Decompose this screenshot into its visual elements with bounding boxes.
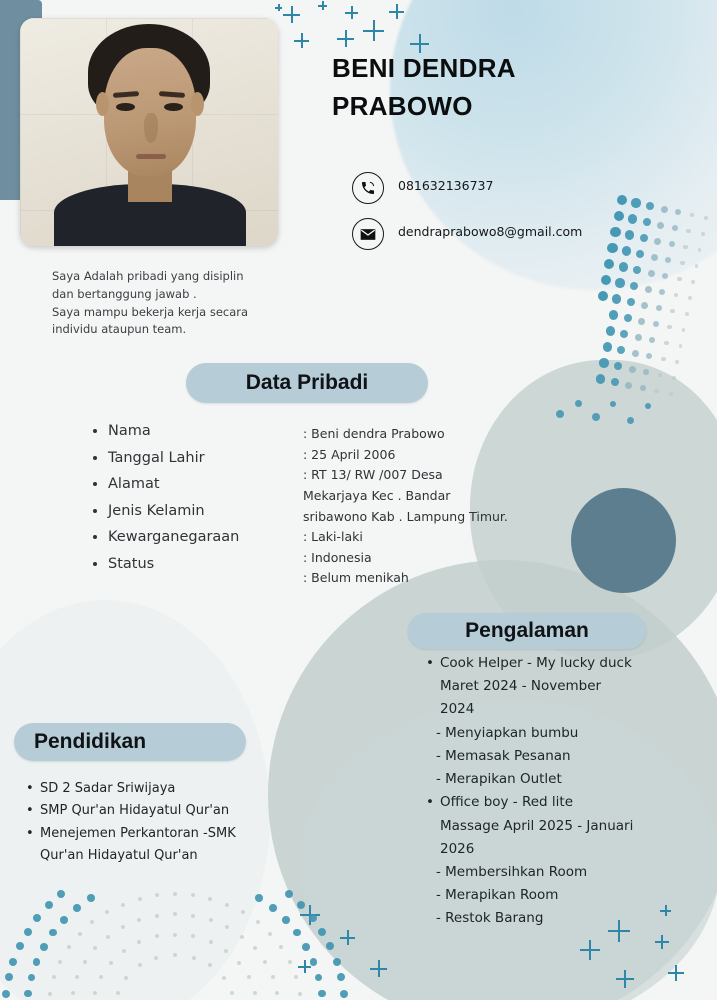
experience-role: Cook Helper - My lucky duck Maret 2024 -… (424, 652, 634, 722)
decorative-dot (620, 330, 628, 338)
decorative-dot (173, 953, 177, 957)
photo-ear-left (96, 92, 109, 116)
data-pribadi-label: Tanggal Lahir (108, 451, 302, 466)
decorative-dot (225, 925, 229, 929)
decorative-dot (688, 296, 692, 300)
decorative-dot (669, 392, 673, 396)
decorative-dot (628, 214, 637, 223)
experience-task: - Merapikan Room (424, 884, 634, 907)
decorative-dot (73, 904, 81, 912)
decorative-dot (138, 897, 142, 901)
data-pribadi-value: : 25 April 2006 (303, 445, 509, 466)
decorative-dot (24, 928, 32, 936)
decorative-dot (124, 976, 128, 980)
decorative-dot (674, 293, 679, 298)
decorative-dot (24, 990, 32, 998)
decorative-dot (592, 413, 600, 421)
decorative-dot (75, 975, 79, 979)
decorative-dot (677, 277, 682, 282)
page-title: BENI DENDRA PRABOWO (332, 50, 632, 125)
education-item: SD 2 Sadar Sriwijaya (22, 778, 240, 800)
decorative-dot (297, 901, 305, 909)
decorative-dot (230, 991, 234, 995)
decorative-dot (121, 903, 125, 907)
decorative-dot (340, 990, 348, 998)
decorative-dot (2, 990, 10, 998)
decorative-dot (191, 914, 195, 918)
section-heading-data-pribadi: Data Pribadi (186, 363, 428, 403)
decorative-dot (646, 353, 652, 359)
decorative-dot (704, 216, 708, 220)
decorative-dot (649, 337, 655, 343)
decorative-dot (106, 935, 110, 939)
decorative-dot (632, 350, 639, 357)
decorative-dot (669, 241, 675, 247)
decorative-dot (609, 310, 618, 319)
photo-eye-right (164, 103, 183, 111)
decorative-dot (604, 259, 614, 269)
section-heading-pendidikan: Pendidikan (14, 723, 246, 761)
decorative-dot (633, 266, 641, 274)
decorative-dot (285, 890, 293, 898)
decorative-dot (298, 992, 302, 996)
decorative-dot (627, 417, 634, 424)
decorative-dot (60, 916, 68, 924)
decorative-dot (661, 206, 668, 213)
decorative-dot (33, 958, 41, 966)
decorative-dot (288, 960, 292, 964)
decorative-dot (636, 250, 644, 258)
decorative-dot (57, 890, 65, 898)
decorative-dot (138, 963, 142, 967)
decorative-dot (154, 956, 158, 960)
decorative-dot (28, 974, 36, 982)
decorative-dot (293, 929, 301, 937)
decorative-dot (667, 325, 672, 330)
contact-email: dendraprabowo8@gmail.com (352, 218, 610, 250)
decorative-dot (155, 914, 159, 918)
decorative-dot (209, 918, 213, 922)
contact-phone: 081632136737 (352, 172, 610, 204)
decorative-dot (645, 403, 651, 409)
decorative-dot (78, 932, 82, 936)
decorative-dot (209, 940, 213, 944)
phone-number: 081632136737 (398, 172, 610, 195)
decorative-dot (641, 302, 648, 309)
decorative-dot (610, 227, 620, 237)
photo-ear-right (191, 92, 204, 116)
experience-task: - Menyiapkan bumbu (424, 722, 634, 745)
experience-task: - Restok Barang (424, 907, 634, 930)
decorative-dot (640, 385, 646, 391)
photo-nose (144, 113, 158, 143)
phone-icon (352, 172, 384, 204)
decorative-dot (629, 366, 636, 373)
decorative-dot (686, 229, 691, 234)
decorative-dot (121, 925, 125, 929)
summary-line: individu ataupun team. (52, 321, 304, 339)
decorative-dot (662, 273, 668, 279)
decorative-dot (224, 949, 228, 953)
summary-line: Saya mampu bekerja kerja secara (52, 304, 304, 322)
decorative-dot (631, 198, 640, 207)
decorative-dot (263, 960, 267, 964)
decorative-dot (294, 975, 298, 979)
decorative-dot (691, 280, 695, 284)
decorative-dot (661, 357, 666, 362)
data-pribadi-value: : RT 13/ RW /007 Desa Mekarjaya Kec . Ba… (303, 465, 509, 527)
profile-photo (20, 18, 278, 246)
decorative-dot (599, 358, 608, 367)
decorative-dot (192, 956, 196, 960)
decorative-dot (315, 974, 323, 982)
decorative-dot (682, 328, 686, 332)
decorative-dot (653, 321, 659, 327)
decorative-dot (45, 901, 53, 909)
decorative-dot (109, 961, 113, 965)
decorative-dot (49, 929, 57, 937)
decorative-dot (271, 975, 275, 979)
decorative-dot (654, 238, 661, 245)
decorative-dot (645, 286, 652, 293)
decorative-dot (326, 942, 334, 950)
decorative-dot (656, 305, 662, 311)
decorative-dot (679, 344, 683, 348)
decorative-dot (638, 318, 645, 325)
decorative-dot (222, 976, 226, 980)
decorative-dot (173, 912, 177, 916)
decorative-dot (596, 374, 605, 383)
experience-role: Office boy - Red lite Massage April 2025… (424, 791, 634, 861)
decorative-dot (680, 261, 685, 266)
decorative-dot (48, 992, 52, 996)
decorative-dot (617, 195, 627, 205)
decorative-dot (255, 894, 263, 902)
decorative-dot (137, 940, 141, 944)
decorative-dot (643, 369, 649, 375)
section-heading-pengalaman: Pengalaman (408, 613, 646, 649)
decorative-dot (625, 230, 634, 239)
decorative-dot (58, 960, 62, 964)
decorative-dot (33, 914, 41, 922)
decorative-dot (40, 943, 48, 951)
data-pribadi-value: : Belum menikah (303, 568, 509, 589)
decorative-dot (155, 893, 159, 897)
decorative-dot (701, 232, 705, 236)
decorative-dot (302, 943, 310, 951)
photo-mouth (136, 154, 166, 159)
decorative-dot (173, 933, 177, 937)
decorative-dot (615, 278, 624, 287)
cv-page: BENI DENDRA PRABOWO 081632136737 dendrap… (0, 0, 717, 1000)
decorative-dot (105, 910, 109, 914)
decorative-dot (237, 961, 241, 965)
decorative-dot (657, 222, 664, 229)
decorative-dot (675, 209, 681, 215)
decorative-dot (282, 916, 290, 924)
data-pribadi-label: Jenis Kelamin (108, 504, 302, 519)
decorative-dot (71, 991, 75, 995)
decorative-dot (318, 928, 326, 936)
decorative-dot (279, 945, 283, 949)
decorative-dot (601, 275, 611, 285)
decorative-dot (269, 904, 277, 912)
decorative-dot (619, 262, 628, 271)
decorative-dot (99, 975, 103, 979)
decorative-dot (83, 960, 87, 964)
decorative-dot (685, 312, 689, 316)
decorative-dot (318, 990, 326, 998)
education-item: SMP Qur'an Hidayatul Qur'an (22, 800, 240, 822)
decorative-dot (116, 991, 120, 995)
decorative-dot (93, 991, 97, 995)
decorative-dot (614, 362, 622, 370)
decorative-dot (52, 975, 56, 979)
decorative-dot (695, 264, 699, 268)
decorative-dot (622, 246, 631, 255)
experience-task: - Memasak Pesanan (424, 745, 634, 768)
data-pribadi-label: Status (108, 557, 302, 572)
data-pribadi-label: Nama (108, 424, 302, 439)
decorative-dot (137, 918, 141, 922)
decorative-dot (612, 294, 621, 303)
decorative-dot (672, 376, 676, 380)
decorative-dot (646, 202, 654, 210)
decorative-dot (630, 282, 638, 290)
decorative-dot (624, 314, 632, 322)
decorative-dot (606, 326, 615, 335)
decorative-dot (208, 963, 212, 967)
decorative-dot (247, 975, 251, 979)
envelope-icon (352, 218, 384, 250)
decorative-dot (191, 934, 195, 938)
decorative-dot (648, 270, 655, 277)
data-pribadi-value: : Beni dendra Prabowo (303, 424, 509, 445)
summary-line: dan bertanggung jawab . (52, 286, 304, 304)
decorative-dot (122, 949, 126, 953)
decorative-dot (575, 400, 582, 407)
summary-line: Saya Adalah pribadi yang disiplin (52, 268, 304, 286)
decorative-dot (275, 991, 279, 995)
decorative-dot (683, 245, 688, 250)
experience-list: Cook Helper - My lucky duck Maret 2024 -… (424, 652, 634, 931)
decorative-dot (635, 334, 642, 341)
decorative-dot (617, 346, 625, 354)
data-pribadi-value: : Laki-laki (303, 527, 509, 548)
decorative-dot (87, 894, 95, 902)
decorative-dot (67, 945, 71, 949)
decorative-dot (611, 378, 619, 386)
decorative-dot (625, 382, 632, 389)
decorative-dot (640, 234, 648, 242)
decorative-dot (659, 289, 665, 295)
decorative-dot (253, 946, 257, 950)
decorative-dot (598, 291, 608, 301)
data-pribadi-labels: NamaTanggal LahirAlamatJenis KelaminKewa… (92, 424, 302, 583)
decorative-dot (698, 248, 702, 252)
decorative-dot (268, 932, 272, 936)
decorative-dot (627, 298, 635, 306)
data-pribadi-label: Alamat (108, 477, 302, 492)
decorative-dot (93, 946, 97, 950)
decorative-dot (173, 892, 177, 896)
experience-task: - Membersihkan Room (424, 861, 634, 884)
decorative-dot (240, 935, 244, 939)
decorative-dot (309, 914, 317, 922)
decorative-dot (610, 401, 616, 407)
decorative-dot (690, 213, 695, 218)
decorative-dot (337, 973, 345, 981)
decorative-dot (16, 942, 24, 950)
education-list: SD 2 Sadar SriwijayaSMP Qur'an Hidayatul… (22, 778, 240, 867)
email-address: dendraprabowo8@gmail.com (398, 218, 610, 241)
decorative-dot (191, 893, 195, 897)
decorative-dot (225, 903, 229, 907)
decorative-dot (665, 257, 671, 263)
education-item: Menejemen Perkantoran -SMK Qur'an Hidaya… (22, 823, 240, 868)
data-pribadi-label: Kewarganegaraan (108, 530, 302, 545)
decorative-dot (556, 410, 564, 418)
decorative-dot (670, 309, 675, 314)
experience-task: - Merapikan Outlet (424, 768, 634, 791)
decorative-dot (614, 211, 624, 221)
decorative-dot (5, 973, 13, 981)
decorative-dot (658, 373, 663, 378)
decorative-dot (643, 218, 651, 226)
decorative-dot (654, 389, 659, 394)
decorative-dot (256, 920, 260, 924)
decorative-dot (333, 958, 341, 966)
decorative-dot (90, 920, 94, 924)
decorative-dot (664, 341, 669, 346)
decorative-dot (253, 991, 257, 995)
decorative-dot (310, 958, 318, 966)
data-pribadi-value: : Indonesia (303, 548, 509, 569)
decorative-dot (155, 934, 159, 938)
data-pribadi-values: : Beni dendra Prabowo: 25 April 2006: RT… (303, 424, 509, 589)
decorative-dot (675, 360, 679, 364)
decorative-dot (241, 910, 245, 914)
decorative-dot (9, 958, 17, 966)
photo-eye-left (116, 103, 135, 111)
decorative-dot (603, 342, 612, 351)
decorative-dot (651, 254, 658, 261)
decorative-dot (672, 225, 678, 231)
decorative-dot (208, 897, 212, 901)
profile-summary: Saya Adalah pribadi yang disiplindan ber… (52, 268, 304, 339)
